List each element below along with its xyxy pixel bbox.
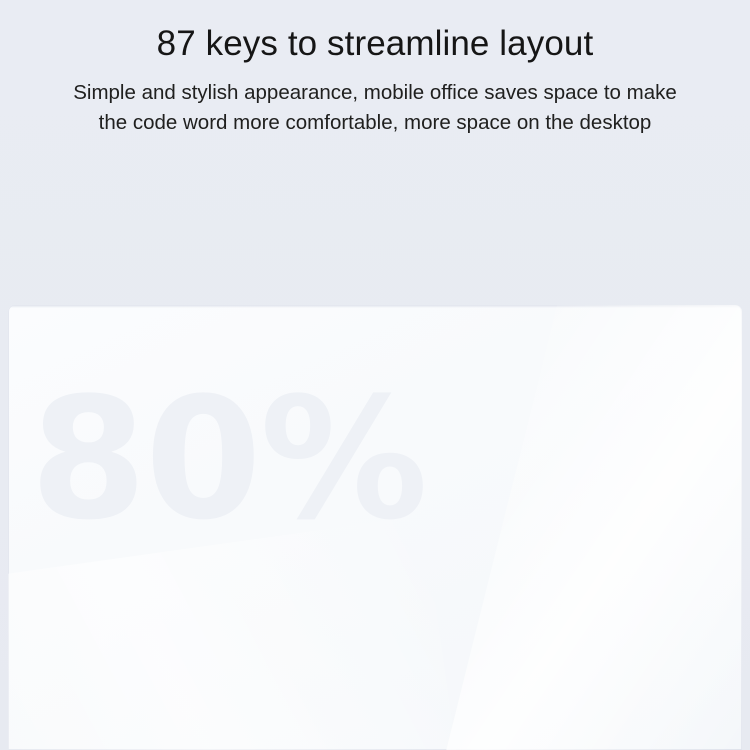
- light-sweep-decoration: [439, 305, 742, 750]
- header-section: 87 keys to streamline layout Simple and …: [0, 0, 750, 300]
- subtitle-line-2: the code word more comfortable, more spa…: [14, 108, 736, 138]
- page-subtitle: Simple and stylish appearance, mobile of…: [0, 78, 750, 138]
- product-showcase-page: 87 keys to streamline layout Simple and …: [0, 0, 750, 750]
- subtitle-line-1: Simple and stylish appearance, mobile of…: [14, 78, 736, 108]
- product-showcase-card: 80% EscF1F2F3F4F5F6F7F8F9F10F11F12PrintS…: [8, 305, 742, 750]
- page-title: 87 keys to streamline layout: [0, 22, 750, 66]
- watermark-80-percent: 80%: [30, 375, 426, 543]
